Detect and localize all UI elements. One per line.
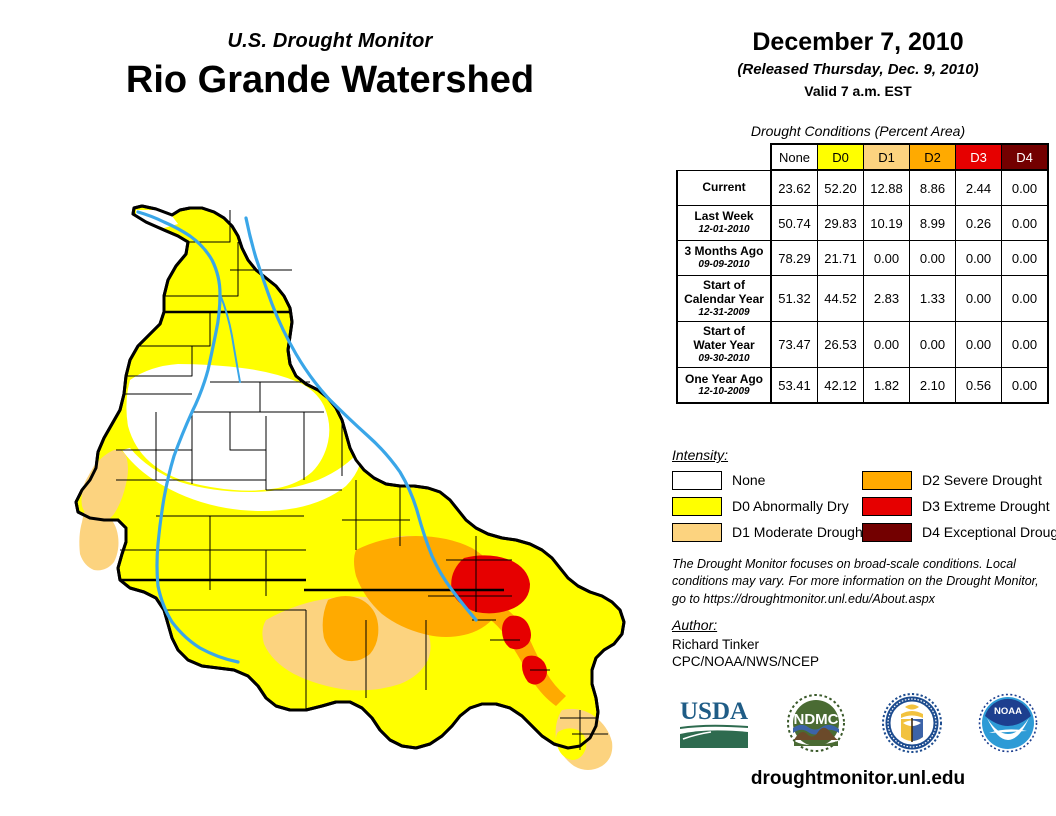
- table-cell-none: 23.62: [771, 170, 818, 206]
- table-row: Current23.6252.2012.888.862.440.00: [677, 170, 1048, 206]
- legend-item: D2 Severe Drought: [862, 469, 1056, 491]
- usdc-seal: [881, 692, 943, 759]
- row-label: One Year Ago12-10-2009: [677, 368, 771, 404]
- row-label-date: 12-31-2009: [680, 307, 768, 319]
- row-label: Current: [677, 170, 771, 206]
- legend-swatch: [672, 523, 722, 542]
- header-block: December 7, 2010 (Released Thursday, Dec…: [660, 28, 1056, 99]
- legend-label: D3 Extreme Drought: [922, 498, 1050, 514]
- legend-label: D1 Moderate Drought: [732, 524, 867, 540]
- table-cell-d2: 1.33: [910, 276, 956, 322]
- legend-column-left: NoneD0 Abnormally DryD1 Moderate Drought: [672, 469, 867, 547]
- table-cell-d3: 0.26: [956, 206, 1002, 241]
- map-svg: [60, 150, 660, 800]
- usda-logo: USDA: [677, 695, 751, 756]
- row-label-date: 09-30-2010: [680, 353, 768, 365]
- drought-monitor-page: U.S. Drought Monitor Rio Grande Watershe…: [0, 0, 1056, 816]
- table-cell-d1: 12.88: [864, 170, 910, 206]
- legend-swatch: [862, 523, 912, 542]
- row-label: Start ofWater Year09-30-2010: [677, 322, 771, 368]
- table-cell-d0: 21.71: [818, 241, 864, 276]
- row-label-date: 09-09-2010: [680, 259, 768, 271]
- release-date: (Released Thursday, Dec. 9, 2010): [660, 61, 1056, 78]
- table-cell-d3: 0.56: [956, 368, 1002, 404]
- noaa-logo: NOAA: [977, 692, 1039, 759]
- table-header-row: NoneD0D1D2D3D4: [677, 144, 1048, 170]
- table-col-header-d0: D0: [818, 144, 864, 170]
- table-row: Last Week12-01-201050.7429.8310.198.990.…: [677, 206, 1048, 241]
- table-cell-d1: 2.83: [864, 276, 910, 322]
- table-cell-d1: 10.19: [864, 206, 910, 241]
- row-label: 3 Months Ago09-09-2010: [677, 241, 771, 276]
- table-caption: Drought Conditions (Percent Area): [660, 123, 1056, 139]
- site-url: droughtmonitor.unl.edu: [660, 768, 1056, 790]
- table-cell-d3: 2.44: [956, 170, 1002, 206]
- legend-label: D0 Abnormally Dry: [732, 498, 849, 514]
- table-cell-d4: 0.00: [1002, 241, 1049, 276]
- table-col-header-d2: D2: [910, 144, 956, 170]
- legend-label: D4 Exceptional Drought: [922, 524, 1056, 540]
- legend-swatch: [862, 497, 912, 516]
- rio-grande-watershed-drought-map: [60, 150, 660, 800]
- table-cell-d3: 0.00: [956, 322, 1002, 368]
- row-label-date: 12-01-2010: [680, 224, 768, 236]
- legend-column-right: D2 Severe DroughtD3 Extreme DroughtD4 Ex…: [862, 469, 1056, 547]
- legend-label: None: [732, 472, 765, 488]
- program-title: U.S. Drought Monitor: [0, 30, 660, 53]
- svg-text:USDA: USDA: [680, 698, 748, 725]
- table-row: One Year Ago12-10-200953.4142.121.822.10…: [677, 368, 1048, 404]
- table-cell-d2: 8.99: [910, 206, 956, 241]
- table-cell-none: 73.47: [771, 322, 818, 368]
- legend-item: D1 Moderate Drought: [672, 521, 867, 543]
- table-row: 3 Months Ago09-09-201078.2921.710.000.00…: [677, 241, 1048, 276]
- table-cell-d0: 42.12: [818, 368, 864, 404]
- legend-item: D4 Exceptional Drought: [862, 521, 1056, 543]
- row-label-line: Last Week: [694, 209, 753, 223]
- row-label-line: Start of: [703, 324, 745, 338]
- table-cell-d2: 0.00: [910, 322, 956, 368]
- legend-item: None: [672, 469, 867, 491]
- legend-swatch: [672, 471, 722, 490]
- row-label-line: Calendar Year: [684, 292, 764, 306]
- legend-item: D0 Abnormally Dry: [672, 495, 867, 517]
- title-block: U.S. Drought Monitor Rio Grande Watershe…: [0, 30, 660, 102]
- map-date: December 7, 2010: [660, 28, 1056, 57]
- table-cell-none: 51.32: [771, 276, 818, 322]
- table-cell-d3: 0.00: [956, 276, 1002, 322]
- table-col-header-d3: D3: [956, 144, 1002, 170]
- svg-text:NDMC: NDMC: [794, 711, 839, 728]
- table-row: Start ofCalendar Year12-31-200951.3244.5…: [677, 276, 1048, 322]
- table-cell-d0: 44.52: [818, 276, 864, 322]
- table-header: NoneD0D1D2D3D4: [677, 144, 1048, 170]
- table-cell-d4: 0.00: [1002, 206, 1049, 241]
- table-cell-none: 53.41: [771, 368, 818, 404]
- table-col-header-d1: D1: [864, 144, 910, 170]
- row-label: Start ofCalendar Year12-31-2009: [677, 276, 771, 322]
- svg-text:NOAA: NOAA: [994, 706, 1022, 717]
- author-name: Richard Tinker: [672, 637, 759, 652]
- ndmc-logo: NDMC: [785, 692, 847, 759]
- table-cell-d0: 29.83: [818, 206, 864, 241]
- table-cell-d4: 0.00: [1002, 322, 1049, 368]
- row-label-line: Water Year: [693, 338, 754, 352]
- table-cell-d0: 52.20: [818, 170, 864, 206]
- row-label-line: 3 Months Ago: [685, 244, 764, 258]
- table-cell-d0: 26.53: [818, 322, 864, 368]
- logo-row: USDA NDMC: [660, 690, 1056, 760]
- table-cell-none: 78.29: [771, 241, 818, 276]
- drought-conditions-table: NoneD0D1D2D3D4 Current23.6252.2012.888.8…: [676, 143, 1049, 404]
- row-label-line: Current: [702, 180, 745, 194]
- valid-time: Valid 7 a.m. EST: [660, 83, 1056, 99]
- table-col-header-d4: D4: [1002, 144, 1049, 170]
- table-cell-d1: 0.00: [864, 322, 910, 368]
- legend-heading: Intensity:: [672, 447, 728, 463]
- legend-swatch: [672, 497, 722, 516]
- table-cell-d3: 0.00: [956, 241, 1002, 276]
- table-cell-none: 50.74: [771, 206, 818, 241]
- table-cell-d2: 0.00: [910, 241, 956, 276]
- table-cell-d1: 1.82: [864, 368, 910, 404]
- table-body: Current23.6252.2012.888.862.440.00Last W…: [677, 170, 1048, 403]
- legend-item: D3 Extreme Drought: [862, 495, 1056, 517]
- row-label-line: Start of: [703, 278, 745, 292]
- row-label-line: One Year Ago: [685, 372, 763, 386]
- author-heading: Author:: [672, 617, 717, 633]
- row-label: Last Week12-01-2010: [677, 206, 771, 241]
- table-cell-d2: 2.10: [910, 368, 956, 404]
- page-title: Rio Grande Watershed: [0, 59, 660, 102]
- table-col-header-none: None: [771, 144, 818, 170]
- table-cell-d4: 0.00: [1002, 276, 1049, 322]
- table-cell-d1: 0.00: [864, 241, 910, 276]
- table-cell-d4: 0.00: [1002, 368, 1049, 404]
- legend-label: D2 Severe Drought: [922, 472, 1042, 488]
- table-cell-d4: 0.00: [1002, 170, 1049, 206]
- author-org: CPC/NOAA/NWS/NCEP: [672, 654, 819, 669]
- table-cell-d2: 8.86: [910, 170, 956, 206]
- legend-swatch: [862, 471, 912, 490]
- row-label-date: 12-10-2009: [680, 386, 768, 398]
- disclaimer-text: The Drought Monitor focuses on broad-sca…: [672, 556, 1052, 608]
- table-corner-cell: [677, 144, 771, 170]
- table-row: Start ofWater Year09-30-201073.4726.530.…: [677, 322, 1048, 368]
